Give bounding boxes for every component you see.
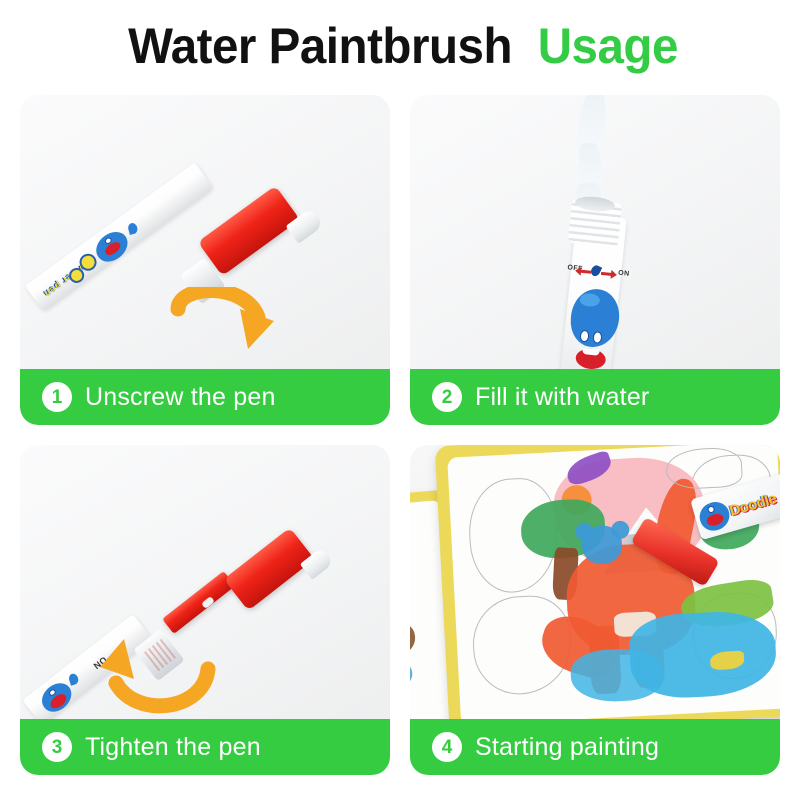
rotate-clockwise-arrow [170, 287, 280, 382]
step-label: Fill it with water [475, 383, 649, 412]
paint-stroke [410, 659, 414, 693]
step-panel-3: ON [20, 445, 390, 775]
paint-stroke [410, 621, 417, 658]
droplet-icon [68, 673, 80, 686]
step-number-badge: 3 [42, 732, 72, 762]
pen-cap [224, 528, 315, 611]
step-number-badge: 1 [42, 382, 72, 412]
step-panel-1: water pen [20, 95, 390, 425]
outline-dinosaur-head [665, 446, 743, 490]
step-panel-2: OFF ON [410, 95, 780, 425]
step-number-badge: 4 [432, 732, 462, 762]
doodle-book-page [447, 445, 780, 725]
page-title: Water PaintbrushUsage [0, 18, 800, 74]
paint-water [570, 647, 665, 704]
page-title-main: Water Paintbrush [128, 18, 512, 74]
step-caption-4: 4 Starting painting [410, 719, 780, 775]
arrow-right-icon [601, 269, 618, 280]
steps-grid: water pen [20, 95, 780, 785]
droplet-icon [127, 222, 139, 235]
pen-barrel-decal: water pen [32, 208, 158, 310]
step-label: Tighten the pen [85, 733, 261, 762]
step-caption-3: 3 Tighten the pen [20, 719, 390, 775]
infographic-page: Water PaintbrushUsage water pen [0, 0, 800, 800]
step-number-badge: 2 [432, 382, 462, 412]
step-panel-4: Doodle 4 Starting painting [410, 445, 780, 775]
pen-cap [198, 186, 300, 276]
arrow-left-icon [575, 266, 592, 277]
step-label: Unscrew the pen [85, 383, 276, 412]
page-title-accent: Usage [538, 18, 678, 74]
pen-inner-shaft [162, 571, 235, 634]
barrel-on-label: ON [618, 270, 630, 278]
step-caption-2: 2 Fill it with water [410, 369, 780, 425]
step-caption-1: 1 Unscrew the pen [20, 369, 390, 425]
step-label: Starting painting [475, 733, 659, 762]
